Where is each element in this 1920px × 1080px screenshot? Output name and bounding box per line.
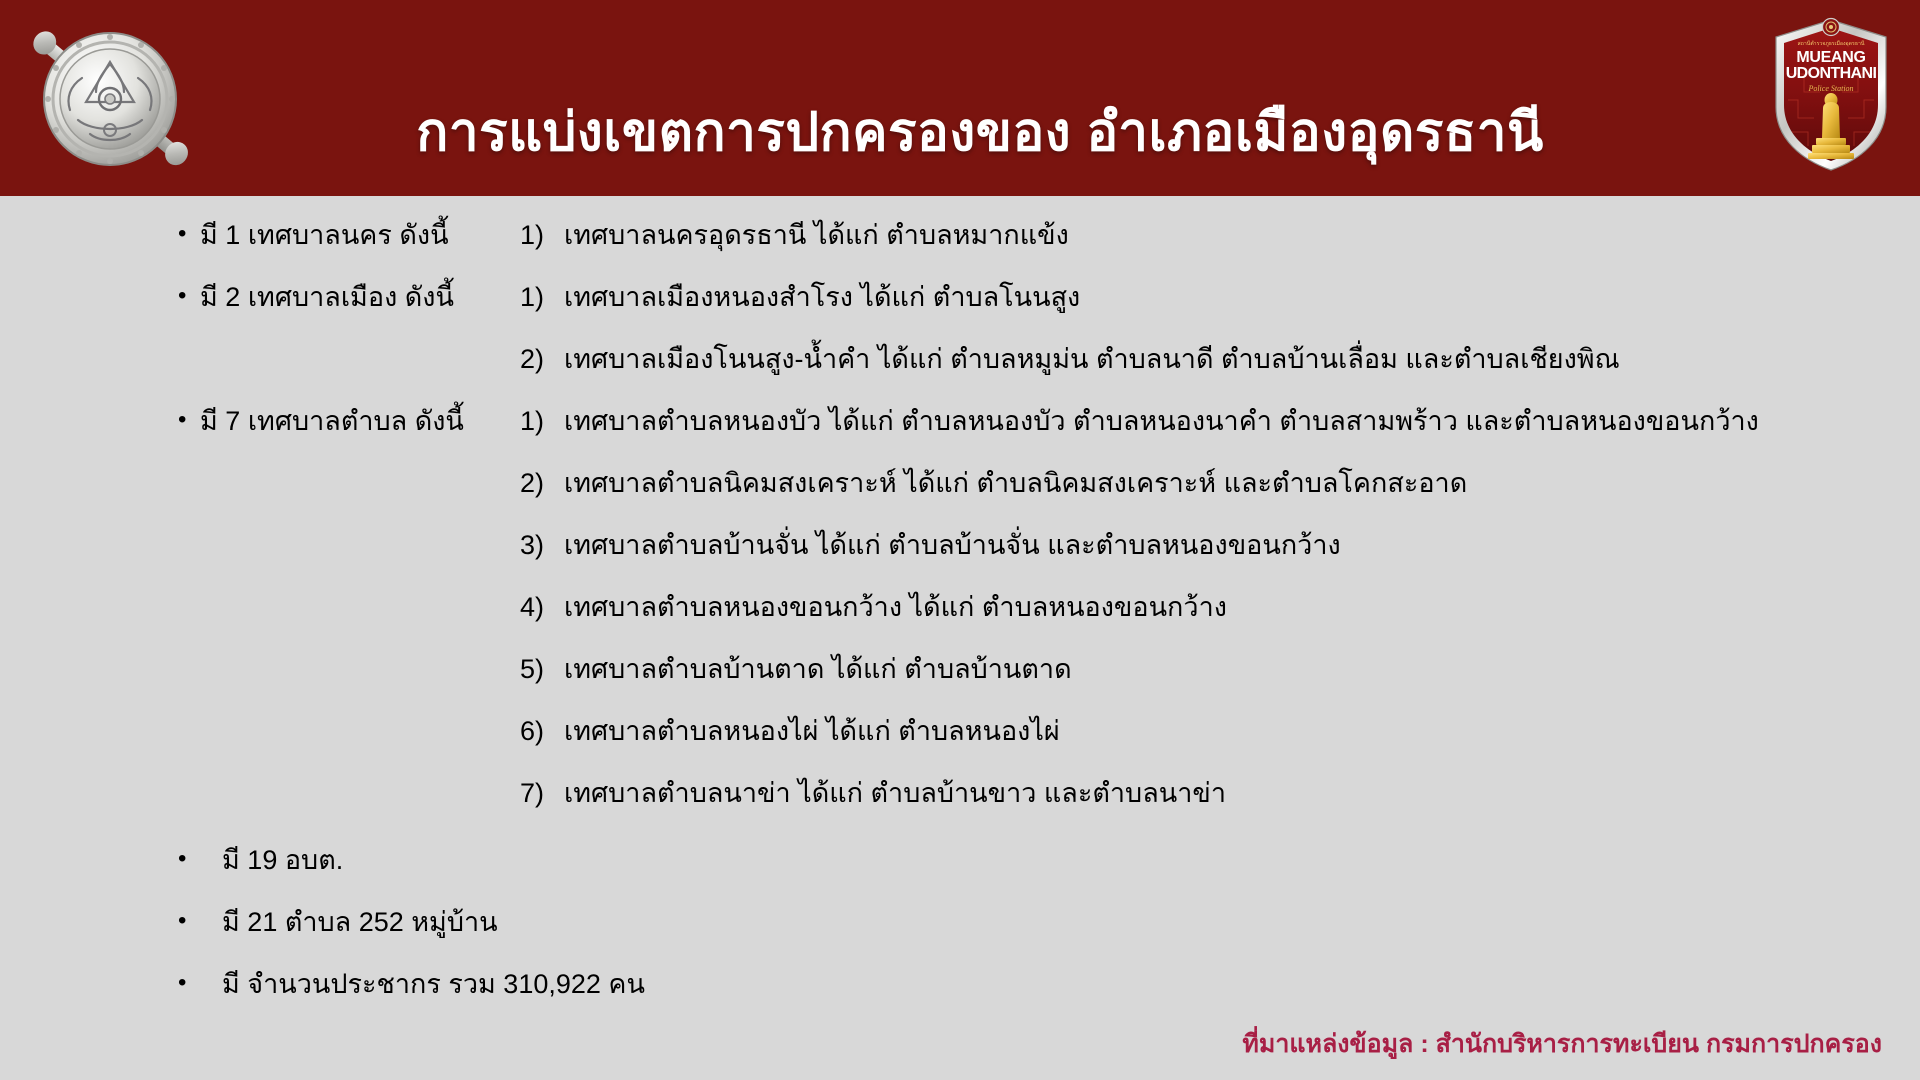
source-attribution: ที่มาแหล่งข้อมูล : สำนักบริหารการทะเบียน… xyxy=(1242,1024,1882,1064)
list-item-number: 2) xyxy=(520,343,564,375)
svg-text:สถานีตำรวจภูธรเมืองอุดรธานี: สถานีตำรวจภูธรเมืองอุดรธานี xyxy=(1798,40,1865,47)
bullet-label: มี 2 เทศบาลเมือง ดังนี้ xyxy=(200,281,454,313)
ceremonial-shield-emblem-icon xyxy=(4,2,216,196)
list-item-number: 2) xyxy=(520,467,564,499)
mueang-udonthani-police-badge-icon: สถานีตำรวจภูธรเมืองอุดรธานี MUEANG UDONT… xyxy=(1768,14,1894,174)
list-item-label: เทศบาลตำบลนาข่า ได้แก่ ตำบลบ้านขาว และตำ… xyxy=(564,777,1226,809)
bullet-dot-icon: • xyxy=(178,405,200,435)
list-item-label: เทศบาลตำบลบ้านตาด ได้แก่ ตำบลบ้านตาด xyxy=(564,653,1072,685)
list-item: 6) เทศบาลตำบลหนองไผ่ ได้แก่ ตำบลหนองไผ่ xyxy=(520,715,1060,747)
list-item-number: 7) xyxy=(520,777,564,809)
bullet-dot-icon: • xyxy=(178,968,200,998)
list-item: 2) เทศบาลตำบลนิคมสงเคราะห์ ได้แก่ ตำบลนิ… xyxy=(520,467,1467,499)
list-item: 1) เทศบาลตำบลหนองบัว ได้แก่ ตำบลหนองบัว … xyxy=(520,405,1759,437)
list-item-label: เทศบาลตำบลหนองไผ่ ได้แก่ ตำบลหนองไผ่ xyxy=(564,715,1060,747)
svg-text:Police Station: Police Station xyxy=(1807,84,1853,93)
bullet-row: • มี 7 เทศบาลตำบล ดังนี้ xyxy=(178,405,464,437)
list-item-label: เทศบาลตำบลหนองบัว ได้แก่ ตำบลหนองบัว ตำบ… xyxy=(564,405,1759,437)
list-item-number: 1) xyxy=(520,219,564,251)
list-item-label: เทศบาลตำบลหนองขอนกว้าง ได้แก่ ตำบลหนองขอ… xyxy=(564,591,1227,623)
bullet-dot-icon: • xyxy=(178,906,200,936)
list-item-number: 1) xyxy=(520,281,564,313)
list-item: 1) เทศบาลเมืองหนองสำโรง ได้แก่ ตำบลโนนสู… xyxy=(520,281,1080,313)
list-item-number: 3) xyxy=(520,529,564,561)
list-item: 7) เทศบาลตำบลนาข่า ได้แก่ ตำบลบ้านขาว แล… xyxy=(520,777,1226,809)
svg-text:MUEANG: MUEANG xyxy=(1796,49,1865,66)
list-item: 4) เทศบาลตำบลหนองขอนกว้าง ได้แก่ ตำบลหนอ… xyxy=(520,591,1227,623)
list-item-number: 5) xyxy=(520,653,564,685)
list-item-number: 1) xyxy=(520,405,564,437)
slide-body: • มี 1 เทศบาลนคร ดังนี้ 1) เทศบาลนครอุดร… xyxy=(0,196,1920,1080)
list-item-label: เทศบาลเมืองหนองสำโรง ได้แก่ ตำบลโนนสูง xyxy=(564,281,1080,313)
list-item-label: เทศบาลตำบลบ้านจั่น ได้แก่ ตำบลบ้านจั่น แ… xyxy=(564,529,1341,561)
list-item-label: เทศบาลตำบลนิคมสงเคราะห์ ได้แก่ ตำบลนิคมส… xyxy=(564,467,1467,499)
bullet-row-summary: • มี 19 อบต. xyxy=(178,844,343,876)
slide-header: การแบ่งเขตการปกครองของ อำเภอเมืองอุดรธาน… xyxy=(0,0,1920,196)
bullet-label: มี 7 เทศบาลตำบล ดังนี้ xyxy=(200,405,464,437)
bullet-row: • มี 2 เทศบาลเมือง ดังนี้ xyxy=(178,281,454,313)
list-item-label: เทศบาลนครอุดรธานี ได้แก่ ตำบลหมากแข้ง xyxy=(564,219,1069,251)
list-item: 3) เทศบาลตำบลบ้านจั่น ได้แก่ ตำบลบ้านจั่… xyxy=(520,529,1341,561)
bullet-dot-icon: • xyxy=(178,281,200,311)
list-item-label: เทศบาลเมืองโนนสูง-น้ำคำ ได้แก่ ตำบลหมูม่… xyxy=(564,343,1620,375)
svg-text:UDONTHANI: UDONTHANI xyxy=(1786,65,1877,82)
list-item-number: 6) xyxy=(520,715,564,747)
bullet-row: • มี 1 เทศบาลนคร ดังนี้ xyxy=(178,219,449,251)
summary-label: มี 19 อบต. xyxy=(200,844,343,876)
bullet-row-summary: • มี 21 ตำบล 252 หมู่บ้าน xyxy=(178,906,498,938)
bullet-dot-icon: • xyxy=(178,219,200,249)
bullet-row-summary: • มี จำนวนประชากร รวม 310,922 คน xyxy=(178,968,645,1000)
list-item: 5) เทศบาลตำบลบ้านตาด ได้แก่ ตำบลบ้านตาด xyxy=(520,653,1072,685)
bullet-dot-icon: • xyxy=(178,844,200,874)
bullet-label: มี 1 เทศบาลนคร ดังนี้ xyxy=(200,219,449,251)
list-item: 1) เทศบาลนครอุดรธานี ได้แก่ ตำบลหมากแข้ง xyxy=(520,219,1069,251)
summary-label: มี 21 ตำบล 252 หมู่บ้าน xyxy=(200,906,498,938)
list-item: 2) เทศบาลเมืองโนนสูง-น้ำคำ ได้แก่ ตำบลหม… xyxy=(520,343,1620,375)
summary-label: มี จำนวนประชากร รวม 310,922 คน xyxy=(200,968,645,1000)
page-title: การแบ่งเขตการปกครองของ อำเภอเมืองอุดรธาน… xyxy=(260,36,1700,197)
list-item-number: 4) xyxy=(520,591,564,623)
